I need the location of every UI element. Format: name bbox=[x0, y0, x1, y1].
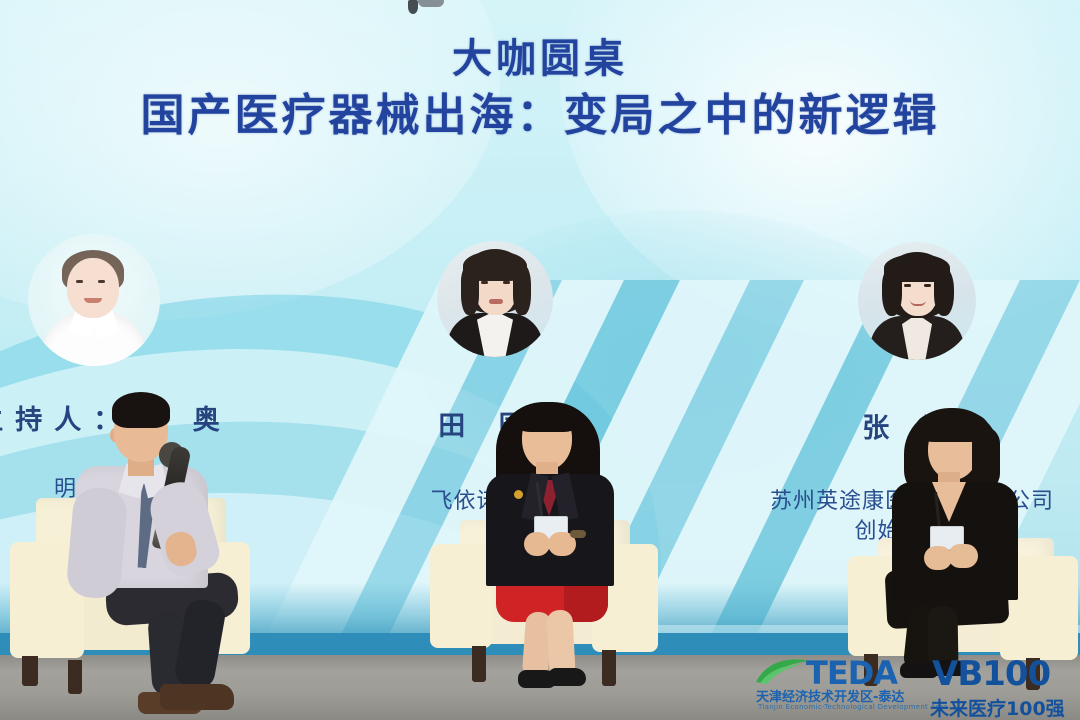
session-title: 大咖圆桌 国产医疗器械出海：变局之中的新逻辑 bbox=[0, 36, 1080, 143]
speaker-3-portrait-avatar bbox=[858, 242, 976, 360]
vb100-wordmark: VB100 bbox=[932, 654, 1050, 694]
speaker-1-arm-left bbox=[65, 486, 128, 600]
teda-logo: TEDA 天津经济技术开发区-泰达 Tianjin Economic-Techn… bbox=[754, 656, 926, 716]
wristwatch-icon bbox=[570, 530, 586, 538]
conference-stage-photo: 大咖圆桌 国产医疗器械出海：变局之中的新逻辑 bbox=[0, 0, 1080, 720]
speaker-1-person bbox=[70, 392, 260, 692]
speaker-3-person bbox=[880, 408, 1040, 678]
lapel-pin-icon bbox=[514, 490, 523, 499]
speaker-2-portrait-avatar bbox=[437, 241, 553, 357]
session-title-line2: 国产医疗器械出海：变局之中的新逻辑 bbox=[0, 88, 1080, 143]
vb100-chinese-name: 未来医疗100强 bbox=[930, 694, 1065, 720]
ceiling-fixture-shadow bbox=[418, 0, 444, 7]
teda-english-name: Tianjin Economic-Technological Developme… bbox=[758, 703, 948, 711]
sponsor-logo-bar: TEDA 天津经济技术开发区-泰达 Tianjin Economic-Techn… bbox=[750, 652, 1080, 720]
ceiling-fixture-icon bbox=[408, 0, 418, 14]
speaker-2-person bbox=[478, 398, 628, 688]
session-title-line1: 大咖圆桌 bbox=[0, 36, 1080, 82]
vb100-logo: VB100 未来医疗100强 bbox=[928, 652, 1078, 720]
speaker-1-portrait-avatar bbox=[28, 234, 160, 366]
speaker-1-legs bbox=[96, 576, 246, 696]
teda-swoosh-icon bbox=[754, 658, 812, 684]
